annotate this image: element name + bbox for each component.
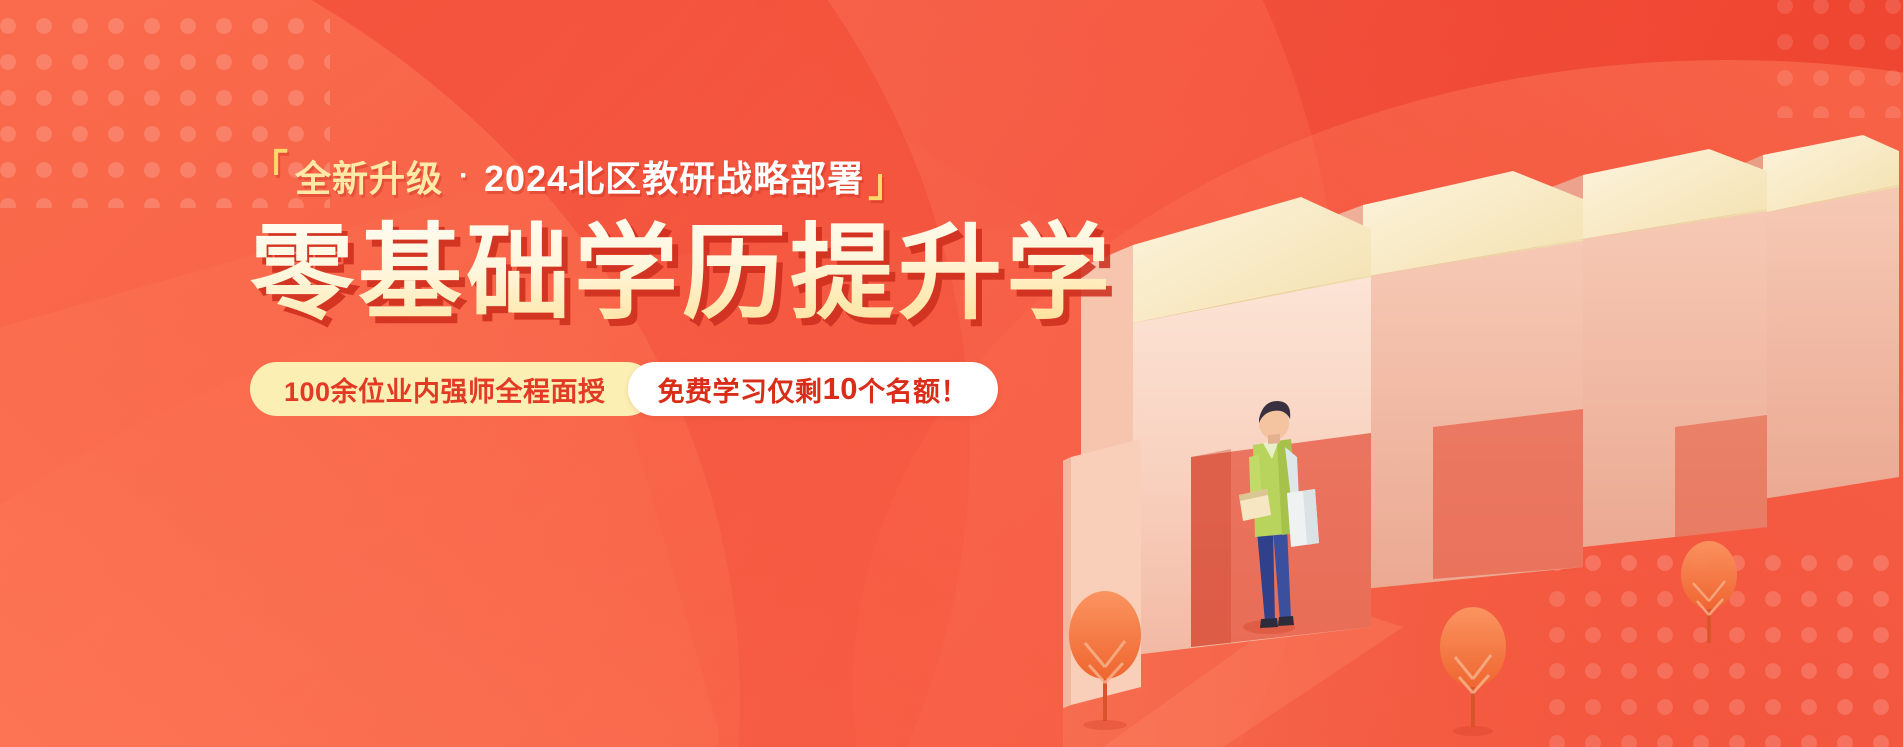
banner-badges: 100余位业内强师全程面授 免费学习仅剩10个名额！ [250,362,1110,416]
badge-free-slots: 免费学习仅剩10个名额！ [628,362,998,416]
subtitle-white-text: 2024北区教研战略部署 [484,150,864,202]
badge-instructors-label: 100余位业内强师全程面授 [284,370,606,409]
badge-free-slots-number: 10 [823,371,858,407]
dot-grid-top-right [1767,0,1903,118]
subtitle-gold-text: 全新升级 [293,150,445,202]
promo-banner: 「 全新升级 · 2024北区教研战略部署 」 零基础学历提升学霸班 100余位… [0,0,1903,747]
close-bracket-icon: 」 [868,165,907,203]
badge-free-slots-suffix: 个名额！ [858,370,968,409]
banner-subtitle: 「 全新升级 · 2024北区教研战略部署 」 [250,150,1110,202]
banner-content: 「 全新升级 · 2024北区教研战略部署 」 零基础学历提升学霸班 100余位… [250,150,1110,416]
subtitle-separator-icon: · [449,159,480,193]
badge-free-slots-prefix: 免费学习仅剩 [658,370,823,409]
open-bracket-icon: 「 [250,151,289,189]
badge-instructors: 100余位业内强师全程面授 [250,362,654,416]
banner-headline: 零基础学历提升学霸班 [250,216,1110,332]
